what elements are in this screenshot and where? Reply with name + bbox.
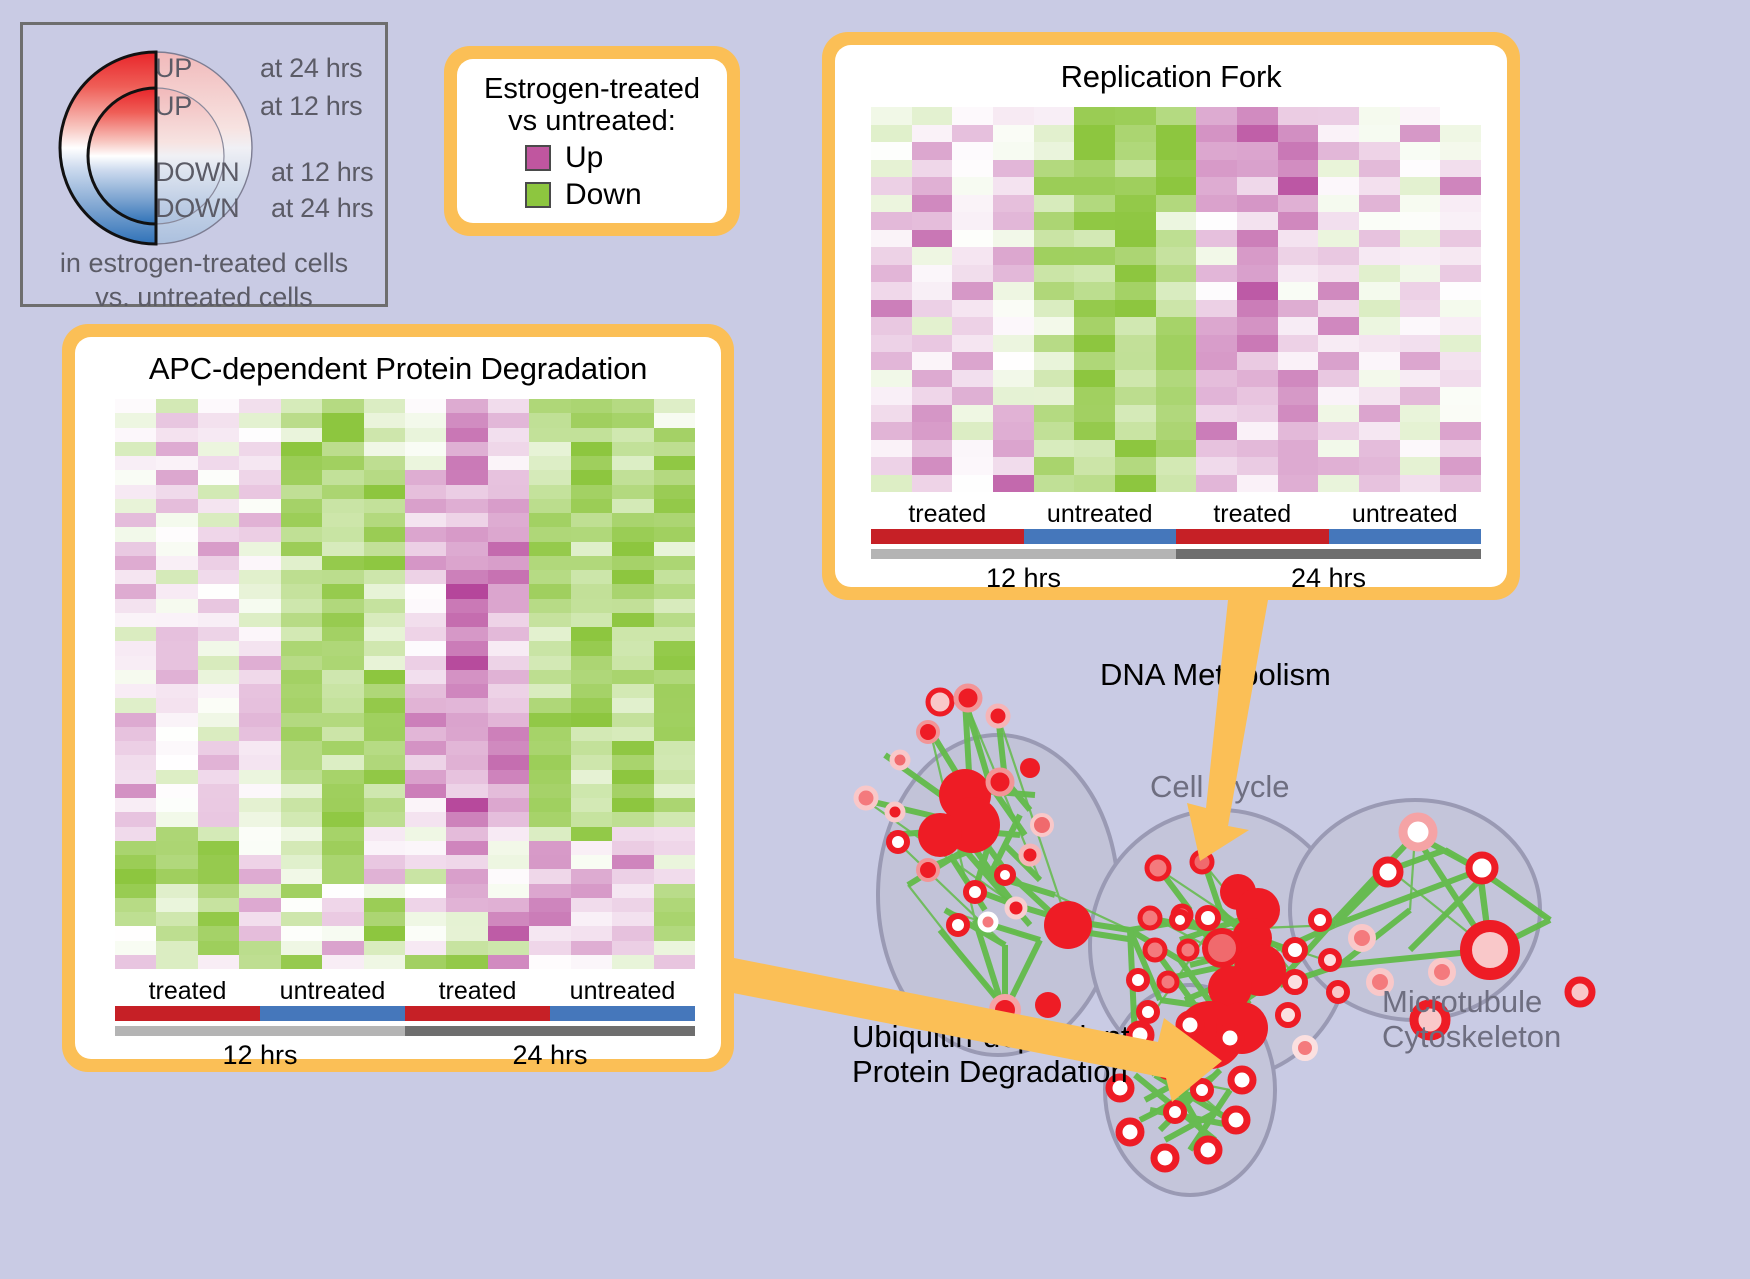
heatmap-cell	[281, 684, 322, 698]
heatmap-cell	[405, 613, 446, 627]
heatmap-cell	[405, 556, 446, 570]
heatmap-cell	[1237, 247, 1278, 265]
heatmap-cell	[1440, 142, 1481, 160]
network-node	[980, 914, 996, 930]
heatmap-cell	[364, 599, 405, 613]
heatmap-cell	[446, 499, 487, 513]
heatmap-cell	[446, 627, 487, 641]
heatmap-cell	[993, 422, 1034, 440]
heatmap-cell	[1115, 125, 1156, 143]
heatmap-cell	[1034, 405, 1075, 423]
heatmap-cell	[952, 125, 993, 143]
heatmap-cell	[571, 955, 612, 969]
heatmap-cell	[529, 570, 570, 584]
heatmap-cell	[1196, 300, 1237, 318]
panel-apc-degradation: APC-dependent Protein Degradation treate…	[62, 324, 734, 1072]
heatmap-cell	[993, 265, 1034, 283]
heatmap-cell	[198, 627, 239, 641]
heatmap-cell	[364, 684, 405, 698]
cluster-label-microtubule-cytoskeleton: Microtubule Cytoskeleton	[1382, 985, 1561, 1054]
heatmap-cell	[1440, 265, 1481, 283]
heatmap-cell	[1237, 160, 1278, 178]
heatmap-cell	[239, 599, 280, 613]
network-node	[1159, 973, 1177, 991]
heatmap-cell	[446, 841, 487, 855]
heatmap-cell	[1318, 282, 1359, 300]
heatmap-cell	[993, 125, 1034, 143]
heatmap-cell	[156, 399, 197, 413]
axis-time-bar	[1176, 549, 1481, 559]
heatmap-cell	[529, 599, 570, 613]
heatmap-cell	[1278, 440, 1319, 458]
network-node	[892, 752, 908, 768]
network-node	[1351, 927, 1373, 949]
heatmap-cell	[322, 798, 363, 812]
heatmap-cell	[529, 556, 570, 570]
heatmap-cell	[1278, 282, 1319, 300]
heatmap-cell	[912, 142, 953, 160]
heatmap-cell	[1034, 317, 1075, 335]
heatmap-cell	[871, 212, 912, 230]
heatmap-cell	[281, 456, 322, 470]
heatmap-cell	[405, 784, 446, 798]
heatmap-cell	[156, 841, 197, 855]
heatmap-cell	[1400, 300, 1441, 318]
heatmap-cell	[488, 713, 529, 727]
colorwheel-footer-line1: in estrogen-treated cells	[23, 247, 385, 281]
network-node	[918, 813, 962, 857]
heatmap-cell	[871, 352, 912, 370]
heatmap-cell	[364, 827, 405, 841]
network-node	[1159, 1059, 1177, 1077]
heatmap-cell	[1237, 125, 1278, 143]
heatmap-cell	[115, 542, 156, 556]
heatmap-cell	[198, 941, 239, 955]
heatmap-cell	[571, 855, 612, 869]
heatmap-cell	[952, 107, 993, 125]
heatmap-cell	[1278, 457, 1319, 475]
heatmap-cell	[1278, 107, 1319, 125]
heatmap-cell	[115, 855, 156, 869]
heatmap-cell	[488, 542, 529, 556]
heatmap-cell	[281, 442, 322, 456]
axis-time-bar	[115, 1026, 405, 1036]
heatmap-cell	[1318, 177, 1359, 195]
heatmap-cell	[198, 912, 239, 926]
heatmap-cell	[405, 570, 446, 584]
heatmap-cell	[281, 741, 322, 755]
heatmap-cell	[446, 470, 487, 484]
heatmap-cell	[239, 527, 280, 541]
heatmap-cell	[1359, 107, 1400, 125]
heatmap-cell	[322, 898, 363, 912]
colorwheel-row-0-time: at 24 hrs	[260, 53, 362, 84]
heatmap-cell	[871, 160, 912, 178]
heatmap-cell	[571, 784, 612, 798]
heatmap-cell	[322, 755, 363, 769]
heatmap-cell	[1196, 422, 1237, 440]
heatmap-cell	[364, 399, 405, 413]
heatmap-cell	[115, 499, 156, 513]
heatmap-cell	[364, 542, 405, 556]
heatmap-cell	[1156, 387, 1197, 405]
heatmap-cell	[405, 599, 446, 613]
heatmap-cell	[322, 784, 363, 798]
heatmap-cell	[612, 912, 653, 926]
heatmap-cell	[1318, 212, 1359, 230]
axis-group-bar	[550, 1006, 695, 1021]
heatmap-cell	[871, 317, 912, 335]
heatmap-cell	[571, 827, 612, 841]
heatmap-cell	[198, 656, 239, 670]
heatmap-cell	[364, 656, 405, 670]
heatmap-cell	[281, 926, 322, 940]
heatmap-cell	[612, 841, 653, 855]
heatmap-cell	[1237, 317, 1278, 335]
heatmap-cell	[281, 912, 322, 926]
heatmap-cell	[364, 442, 405, 456]
heatmap-cell	[115, 570, 156, 584]
heatmap-cell	[571, 513, 612, 527]
heatmap-cell	[115, 898, 156, 912]
heatmap-cell	[198, 527, 239, 541]
heatmap-cell	[446, 485, 487, 499]
heatmap-cell	[654, 670, 695, 684]
heatmap-cell	[239, 542, 280, 556]
heatmap-cell	[488, 898, 529, 912]
heatmap-cell	[1400, 405, 1441, 423]
heatmap-cell	[993, 317, 1034, 335]
heatmap-cell	[871, 457, 912, 475]
heatmap-cell	[1400, 195, 1441, 213]
heatmap-cell	[115, 613, 156, 627]
heatmap-cell	[115, 812, 156, 826]
heatmap-cell	[156, 513, 197, 527]
heatmap-cell	[156, 898, 197, 912]
heatmap-cell	[1440, 335, 1481, 353]
heatmap-cell	[654, 470, 695, 484]
heatmap-cell	[1359, 195, 1400, 213]
heatmap-cell	[156, 542, 197, 556]
heatmap-cell	[654, 727, 695, 741]
heatmap-cell	[198, 855, 239, 869]
heatmap-cell	[405, 527, 446, 541]
heatmap-cell	[405, 741, 446, 755]
heatmap-cell	[446, 670, 487, 684]
heatmap-cell	[446, 812, 487, 826]
heatmap-cell	[1237, 475, 1278, 493]
heatmap-cell	[571, 912, 612, 926]
network-node	[1469, 855, 1495, 881]
heatmap-cell	[952, 422, 993, 440]
heatmap-cell	[654, 869, 695, 883]
heatmap-cell	[446, 399, 487, 413]
heatmap-cell	[1196, 160, 1237, 178]
heatmap-cell	[571, 584, 612, 598]
heatmap-cell	[115, 727, 156, 741]
heatmap-cell	[1440, 107, 1481, 125]
heatmap-cell	[993, 142, 1034, 160]
heatmap-cell	[1359, 142, 1400, 160]
heatmap-cell	[239, 570, 280, 584]
axis-group-label: untreated	[1329, 500, 1482, 529]
key-label-down: Down	[565, 178, 642, 212]
heatmap-cell	[1237, 212, 1278, 230]
heatmap-cell	[281, 727, 322, 741]
heatmap-cell	[1034, 247, 1075, 265]
heatmap-cell	[239, 641, 280, 655]
heatmap-cell	[239, 855, 280, 869]
heatmap-cell	[322, 955, 363, 969]
cluster-label-ubiquitin-line2: Protein Degradation	[852, 1055, 1130, 1090]
heatmap-cell	[405, 912, 446, 926]
heatmap-cell	[1359, 160, 1400, 178]
heatmap-cell	[198, 641, 239, 655]
heatmap-cell	[488, 428, 529, 442]
panel-apc-title: APC-dependent Protein Degradation	[75, 337, 721, 387]
heatmap-cell	[1440, 422, 1481, 440]
heatmap-cell	[912, 125, 953, 143]
network-node	[1197, 1139, 1219, 1161]
heatmap-cell	[115, 955, 156, 969]
heatmap-cell	[1156, 195, 1197, 213]
colorwheel-row-2-time: at 12 hrs	[271, 157, 373, 188]
network-node	[1129, 1024, 1151, 1046]
axis-time-bars-replication	[871, 549, 1481, 559]
heatmap-cell	[322, 627, 363, 641]
heatmap-cell	[612, 855, 653, 869]
heatmap-cell	[364, 784, 405, 798]
heatmap-cell	[322, 727, 363, 741]
heatmap-cell	[322, 413, 363, 427]
heatmap-cell	[405, 812, 446, 826]
network-node	[988, 706, 1008, 726]
heatmap-cell	[239, 841, 280, 855]
heatmap-cell	[612, 556, 653, 570]
axis-group-bars-apc	[115, 1006, 695, 1021]
expression-key-panel: Estrogen-treated vs untreated: Up Down	[444, 46, 740, 236]
heatmap-cell	[156, 684, 197, 698]
heatmap-cell	[446, 456, 487, 470]
heatmap-cell	[1196, 107, 1237, 125]
heatmap-cell	[1440, 370, 1481, 388]
network-node	[856, 788, 876, 808]
heatmap-cell	[322, 869, 363, 883]
heatmap-cell	[322, 542, 363, 556]
heatmap-cell	[1196, 195, 1237, 213]
network-node	[1431, 961, 1453, 983]
heatmap-cell	[488, 556, 529, 570]
heatmap-cell	[364, 670, 405, 684]
cluster-label-microtubule-line1: Microtubule	[1382, 985, 1561, 1020]
heatmap-cell	[612, 698, 653, 712]
heatmap-cell	[612, 499, 653, 513]
heatmap-cell	[364, 570, 405, 584]
heatmap-cell	[322, 684, 363, 698]
heatmap-cell	[1400, 387, 1441, 405]
heatmap-cell	[612, 812, 653, 826]
heatmap-cell	[446, 713, 487, 727]
heatmap-cell	[405, 627, 446, 641]
heatmap-cell	[405, 841, 446, 855]
heatmap-cell	[529, 741, 570, 755]
heatmap-cell	[156, 456, 197, 470]
heatmap-cell	[1196, 177, 1237, 195]
heatmap-cell	[488, 912, 529, 926]
heatmap-cell	[1115, 387, 1156, 405]
axis-group-bar	[115, 1006, 260, 1021]
heatmap-cell	[281, 613, 322, 627]
heatmap-cell	[654, 442, 695, 456]
heatmap-cell	[912, 282, 953, 300]
heatmap-cell	[446, 727, 487, 741]
swatch-down-icon	[525, 182, 551, 208]
colorwheel-footer-line2: vs. untreated cells	[23, 281, 385, 315]
heatmap-cell	[1196, 317, 1237, 335]
heatmap-cell	[529, 656, 570, 670]
heatmap-cell	[612, 770, 653, 784]
network-node	[1311, 911, 1329, 929]
network-node	[966, 883, 984, 901]
heatmap-cell	[281, 641, 322, 655]
heatmap-cell	[405, 499, 446, 513]
heatmap-cell	[529, 755, 570, 769]
heatmap-cell	[1440, 195, 1481, 213]
heatmap-cell	[281, 784, 322, 798]
heatmap-cell	[1359, 457, 1400, 475]
network-node	[1129, 971, 1147, 989]
heatmap-cell	[1156, 212, 1197, 230]
heatmap-cell	[1400, 212, 1441, 230]
heatmap-cell	[571, 599, 612, 613]
cluster-label-cell-cycle: Cell Cycle	[1150, 770, 1290, 805]
heatmap-cell	[529, 613, 570, 627]
network-node	[1032, 815, 1052, 835]
heatmap-cell	[654, 926, 695, 940]
heatmap-cell	[364, 898, 405, 912]
heatmap-cell	[1034, 142, 1075, 160]
network-node	[887, 804, 903, 820]
heatmap-cell	[405, 428, 446, 442]
heatmap-cell	[405, 641, 446, 655]
axis-group-label: treated	[115, 977, 260, 1006]
heatmap-cell	[446, 770, 487, 784]
heatmap-cell	[871, 300, 912, 318]
heatmap-cell	[654, 713, 695, 727]
heatmap-cell	[1034, 282, 1075, 300]
heatmap-cell	[405, 855, 446, 869]
heatmap-cell	[156, 784, 197, 798]
heatmap-cell	[281, 570, 322, 584]
heatmap-cell	[1318, 335, 1359, 353]
heatmap-cell	[1400, 142, 1441, 160]
heatmap-cell	[1115, 195, 1156, 213]
heatmap-cell	[239, 869, 280, 883]
heatmap-cell	[612, 442, 653, 456]
heatmap-cell	[405, 670, 446, 684]
heatmap-cell	[1115, 422, 1156, 440]
heatmap-cell	[446, 884, 487, 898]
network-node	[997, 867, 1013, 883]
heatmap-cell	[322, 812, 363, 826]
heatmap-cell	[405, 869, 446, 883]
heatmap-cell	[446, 784, 487, 798]
heatmap-cell	[1237, 142, 1278, 160]
heatmap-cell	[115, 485, 156, 499]
heatmap-cell	[322, 827, 363, 841]
heatmap-cell	[529, 399, 570, 413]
heatmap-cell	[1196, 265, 1237, 283]
network-node	[1035, 992, 1061, 1018]
heatmap-cell	[1115, 335, 1156, 353]
heatmap-cell	[654, 513, 695, 527]
heatmap-cell	[529, 926, 570, 940]
axis-group-bar	[260, 1006, 405, 1021]
heatmap-cell	[322, 570, 363, 584]
heatmap-cell	[446, 656, 487, 670]
heatmap-cell	[281, 527, 322, 541]
heatmap-cell	[912, 387, 953, 405]
heatmap-cell	[322, 698, 363, 712]
heatmap-cell	[571, 556, 612, 570]
heatmap-cell	[1115, 212, 1156, 230]
heatmap-cell	[488, 442, 529, 456]
heatmap-cell	[488, 584, 529, 598]
heatmap-cell	[198, 741, 239, 755]
heatmap-cell	[1237, 107, 1278, 125]
heatmap-cell	[198, 670, 239, 684]
heatmap-cell	[529, 641, 570, 655]
heatmap-cell	[1196, 247, 1237, 265]
heatmap-cell	[1074, 422, 1115, 440]
heatmap-cell	[239, 413, 280, 427]
heatmap-cell	[571, 413, 612, 427]
heatmap-cell	[156, 955, 197, 969]
heatmap-cell	[322, 456, 363, 470]
heatmap-cell	[654, 884, 695, 898]
heatmap-cell	[1074, 405, 1115, 423]
heatmap-cell	[1318, 457, 1359, 475]
heatmap-cell	[1278, 352, 1319, 370]
heatmap-cell	[446, 869, 487, 883]
heatmap-cell	[654, 656, 695, 670]
heatmap-cell	[654, 399, 695, 413]
heatmap-cell	[952, 230, 993, 248]
heatmap-cell	[1359, 247, 1400, 265]
heatmap-cell	[1115, 457, 1156, 475]
heatmap-cell	[364, 584, 405, 598]
heatmap-cell	[1278, 317, 1319, 335]
heatmap-cell	[1237, 177, 1278, 195]
network-node	[1568, 980, 1592, 1004]
heatmap-cell	[115, 827, 156, 841]
cluster-label-ubiquitin-degradation: Ubiquitin-dependent Protein Degradation	[852, 1020, 1130, 1089]
network-node	[1198, 908, 1218, 928]
heatmap-cell	[239, 941, 280, 955]
heatmap-cell	[612, 798, 653, 812]
heatmap-cell	[405, 770, 446, 784]
heatmap-cell	[198, 784, 239, 798]
heatmap-cell	[405, 456, 446, 470]
heatmap-cell	[1278, 265, 1319, 283]
heatmap-cell	[529, 855, 570, 869]
heatmap-cell	[612, 755, 653, 769]
heatmap-cell	[115, 884, 156, 898]
heatmap-cell	[571, 869, 612, 883]
heatmap-cell	[1318, 247, 1359, 265]
heatmap-cell	[912, 230, 953, 248]
heatmap-cell	[571, 470, 612, 484]
